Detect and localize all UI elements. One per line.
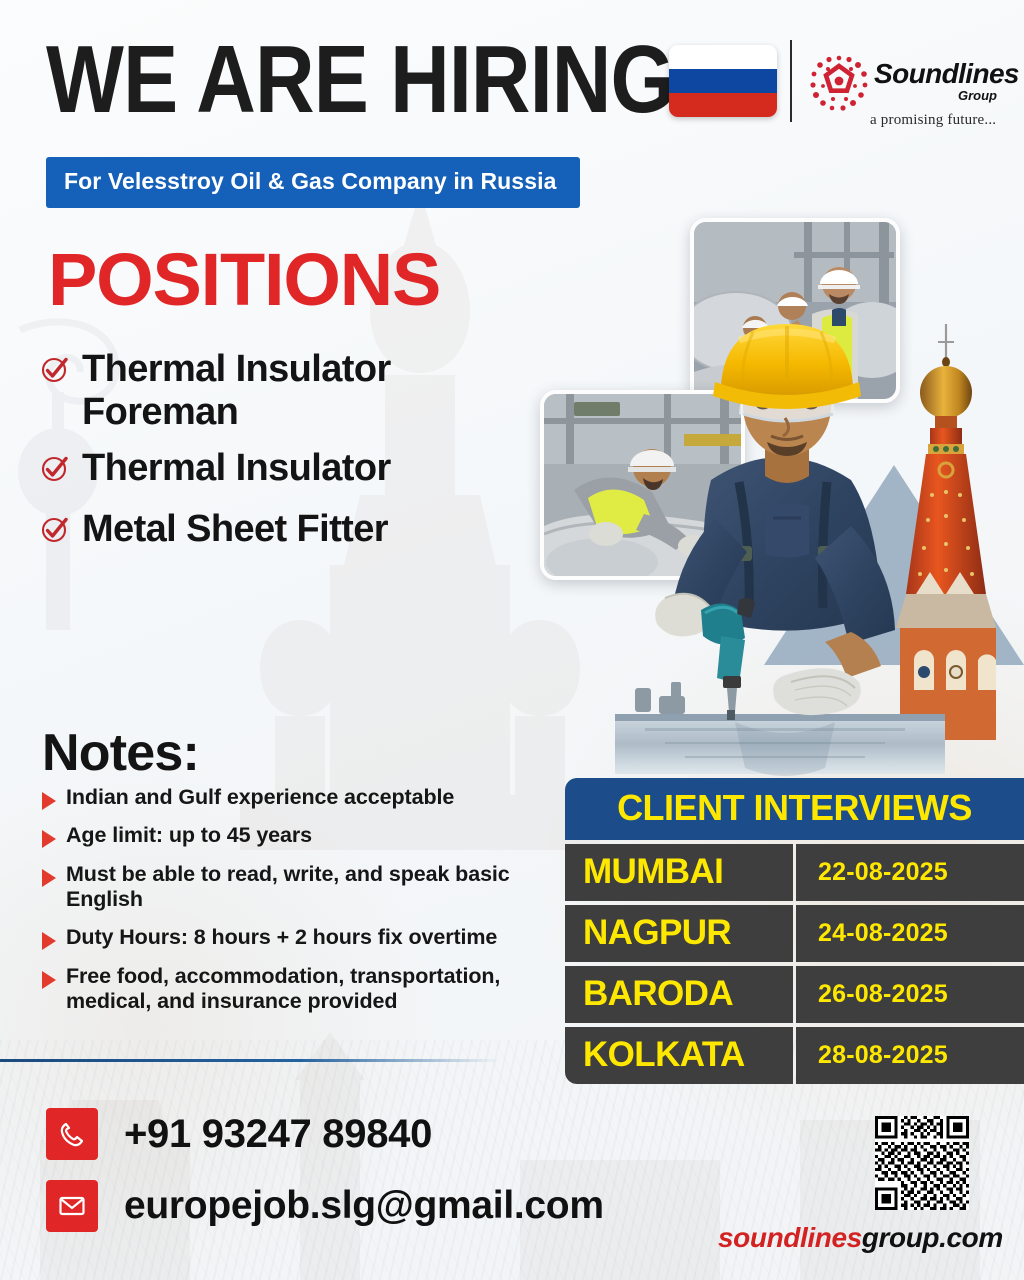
table-header: CLIENT INTERVIEWS (565, 778, 1024, 840)
list-item: Free food, accommodation, transportation… (42, 964, 562, 1015)
phone-row[interactable]: +91 93247 89840 (46, 1108, 604, 1160)
position-label: Thermal Insulator Foreman (82, 348, 540, 433)
list-item: Thermal Insulator Foreman (40, 348, 540, 433)
table-row: BARODA 26-08-2025 (565, 966, 1024, 1023)
list-item: Indian and Gulf experience acceptable (42, 785, 562, 810)
table-row: NAGPUR 24-08-2025 (565, 905, 1024, 962)
triangle-right-icon (42, 830, 56, 848)
notes-list: Indian and Gulf experience acceptable Ag… (42, 785, 562, 1028)
list-item: Thermal Insulator (40, 447, 540, 490)
position-label: Metal Sheet Fitter (82, 508, 388, 551)
interview-date: 26-08-2025 (796, 966, 1024, 1023)
note-text: Indian and Gulf experience acceptable (66, 785, 454, 810)
phone-number: +91 93247 89840 (124, 1112, 432, 1157)
brand-logo: Soundlines Group a promising future... (808, 50, 1008, 130)
note-text: Age limit: up to 45 years (66, 823, 312, 848)
interview-city: KOLKATA (565, 1027, 793, 1084)
triangle-right-icon (42, 932, 56, 950)
brand-subname: Group (958, 88, 997, 103)
client-interviews-table: CLIENT INTERVIEWS MUMBAI 22-08-2025 NAGP… (565, 778, 1024, 1084)
list-item: Age limit: up to 45 years (42, 823, 562, 848)
note-text: Must be able to read, write, and speak b… (66, 862, 562, 913)
worker-drilling-metal-sheet-photo (615, 310, 945, 810)
notes-heading: Notes: (42, 723, 199, 783)
logo-divider (790, 40, 792, 122)
poster-canvas: WE ARE HIRING For Velesstroy Oil & Gas C… (0, 0, 1024, 1280)
positions-list: Thermal Insulator Foreman Thermal Insula… (40, 348, 540, 568)
list-item: Must be able to read, write, and speak b… (42, 862, 562, 913)
phone-icon (46, 1108, 98, 1160)
note-text: Free food, accommodation, transportation… (66, 964, 562, 1015)
interview-city: NAGPUR (565, 905, 793, 962)
russia-flag-icon (669, 45, 777, 117)
brand-tagline: a promising future... (870, 112, 996, 129)
page-title: WE ARE HIRING (46, 34, 674, 126)
interview-date: 22-08-2025 (796, 844, 1024, 901)
table-row: MUMBAI 22-08-2025 (565, 844, 1024, 901)
footer-divider (0, 1059, 500, 1062)
subtitle-banner: For Velesstroy Oil & Gas Company in Russ… (46, 157, 580, 208)
note-text: Duty Hours: 8 hours + 2 hours fix overti… (66, 925, 497, 950)
email-address: europejob.slg@gmail.com (124, 1184, 604, 1228)
email-row[interactable]: europejob.slg@gmail.com (46, 1180, 604, 1232)
interview-date: 24-08-2025 (796, 905, 1024, 962)
interview-city: MUMBAI (565, 844, 793, 901)
interview-date: 28-08-2025 (796, 1027, 1024, 1084)
list-item: Duty Hours: 8 hours + 2 hours fix overti… (42, 925, 562, 950)
table-row: KOLKATA 28-08-2025 (565, 1027, 1024, 1084)
circle-check-icon (40, 354, 70, 384)
qr-code-icon[interactable] (875, 1116, 969, 1210)
website-domain: group.com (862, 1222, 1003, 1253)
photo-collage (530, 190, 1024, 810)
contact-block: +91 93247 89840 europejob.slg@gmail.com (46, 1108, 604, 1252)
envelope-icon (46, 1180, 98, 1232)
triangle-right-icon (42, 971, 56, 989)
circle-check-icon (40, 453, 70, 483)
soundlines-logo-icon (808, 52, 870, 114)
brand-name: Soundlines (874, 58, 1019, 90)
list-item: Metal Sheet Fitter (40, 508, 540, 551)
triangle-right-icon (42, 792, 56, 810)
interview-city: BARODA (565, 966, 793, 1023)
triangle-right-icon (42, 869, 56, 887)
position-label: Thermal Insulator (82, 447, 391, 490)
website-brand: soundlines (718, 1222, 862, 1253)
positions-heading: POSITIONS (48, 237, 440, 322)
circle-check-icon (40, 514, 70, 544)
website-url[interactable]: soundlinesgroup.com (718, 1222, 1003, 1254)
